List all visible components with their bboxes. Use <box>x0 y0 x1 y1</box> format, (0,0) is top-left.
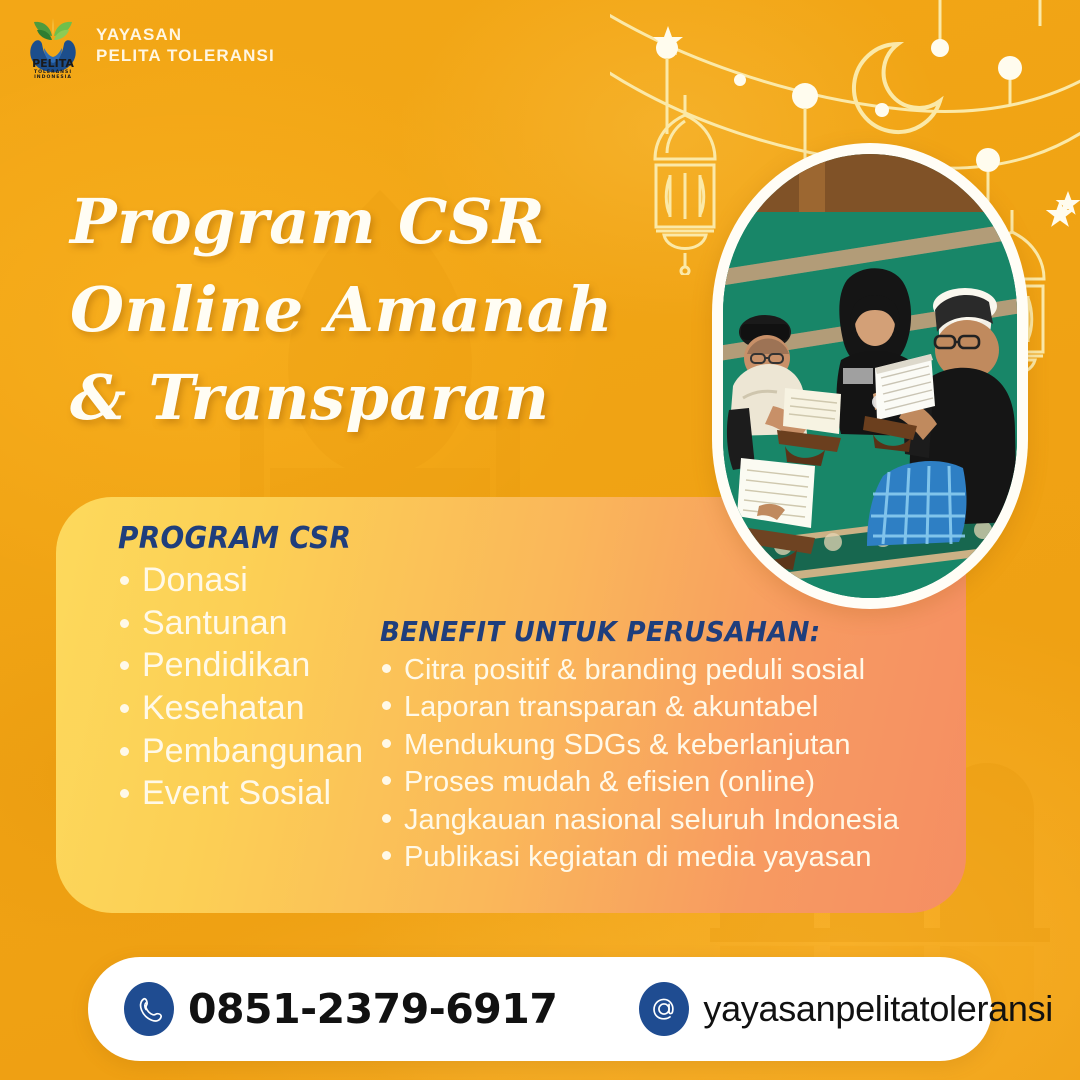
bullet-dot <box>120 789 129 798</box>
list-item: Kesehatan <box>120 687 363 730</box>
social-handle: yayasanpelitatoleransi <box>703 988 1053 1030</box>
headline-line1: Program CSR <box>70 178 613 266</box>
bullet-dot <box>382 664 391 673</box>
headline: Program CSR Online Amanah & Transparan <box>70 178 613 442</box>
contact-footer-bar: 0851-2379-6917 yayasanpelitatoleransi <box>88 957 992 1061</box>
list-item: Donasi <box>120 559 363 602</box>
bullet-dot <box>382 776 391 785</box>
brand-name-line1: YAYASAN <box>96 25 275 46</box>
list-item: Pembangunan <box>120 730 363 773</box>
bullet-dot <box>382 851 391 860</box>
bullet-dot <box>120 576 129 585</box>
list-item: Santunan <box>120 602 363 645</box>
program-csr-list: Donasi Santunan Pendidikan Kesehatan Pem… <box>120 559 363 815</box>
bullet-dot <box>382 814 391 823</box>
list-item: Publikasi kegiatan di media yayasan <box>382 839 899 876</box>
phone-number: 0851-2379-6917 <box>188 985 557 1033</box>
list-item-label: Citra positif & branding peduli sosial <box>404 652 865 689</box>
list-item: Event Sosial <box>120 772 363 815</box>
list-item: Laporan transparan & akuntabel <box>382 689 899 726</box>
list-item-label: Mendukung SDGs & keberlanjutan <box>404 727 851 764</box>
bullet-dot <box>120 704 129 713</box>
phone-contact[interactable]: 0851-2379-6917 <box>124 982 557 1036</box>
benefit-heading: BENEFIT UNTUK PERUSAHAN: <box>380 615 820 648</box>
bullet-dot <box>120 747 129 756</box>
bullet-dot <box>120 619 129 628</box>
logo-wordmark: PELITA <box>32 57 74 70</box>
list-item: Jangkauan nasional seluruh Indonesia <box>382 802 899 839</box>
quran-study-session-photo <box>723 154 1017 598</box>
list-item-label: Proses mudah & efisien (online) <box>404 764 815 801</box>
pelita-sprout-hands-logo: PELITA TOLERANSI INDONESIA <box>24 14 82 78</box>
list-item-label: Pembangunan <box>142 730 363 773</box>
brand-name-line2: PELITA TOLERANSI <box>96 46 275 67</box>
lantern-left-icon <box>640 95 730 275</box>
headline-line2: Online Amanah <box>70 266 613 354</box>
list-item-label: Kesehatan <box>142 687 305 730</box>
list-item: Pendidikan <box>120 644 363 687</box>
phone-handset-icon <box>124 982 174 1036</box>
brand-name: YAYASAN PELITA TOLERANSI <box>96 25 275 66</box>
bullet-dot <box>382 739 391 748</box>
bullet-dot <box>120 661 129 670</box>
list-item-label: Event Sosial <box>142 772 331 815</box>
list-item-label: Pendidikan <box>142 644 310 687</box>
program-csr-heading: PROGRAM CSR <box>118 521 351 556</box>
quran-study-photo-frame <box>712 143 1028 609</box>
list-item-label: Donasi <box>142 559 248 602</box>
list-item: Mendukung SDGs & keberlanjutan <box>382 727 899 764</box>
list-item-label: Santunan <box>142 602 288 645</box>
bullet-dot <box>382 701 391 710</box>
logo-sub-indonesia: INDONESIA <box>34 74 72 78</box>
at-sign-icon <box>639 982 689 1036</box>
brand-header: PELITA TOLERANSI INDONESIA YAYASAN PELIT… <box>24 14 275 78</box>
list-item-label: Laporan transparan & akuntabel <box>404 689 818 726</box>
list-item-label: Publikasi kegiatan di media yayasan <box>404 839 872 876</box>
list-item: Citra positif & branding peduli sosial <box>382 652 899 689</box>
list-item: Proses mudah & efisien (online) <box>382 764 899 801</box>
headline-line3: & Transparan <box>70 354 613 442</box>
benefit-list: Citra positif & branding peduli sosial L… <box>382 652 899 876</box>
poster-canvas: PELITA TOLERANSI INDONESIA YAYASAN PELIT… <box>0 0 1080 1080</box>
social-handle-contact[interactable]: yayasanpelitatoleransi <box>639 982 1053 1036</box>
list-item-label: Jangkauan nasional seluruh Indonesia <box>404 802 899 839</box>
